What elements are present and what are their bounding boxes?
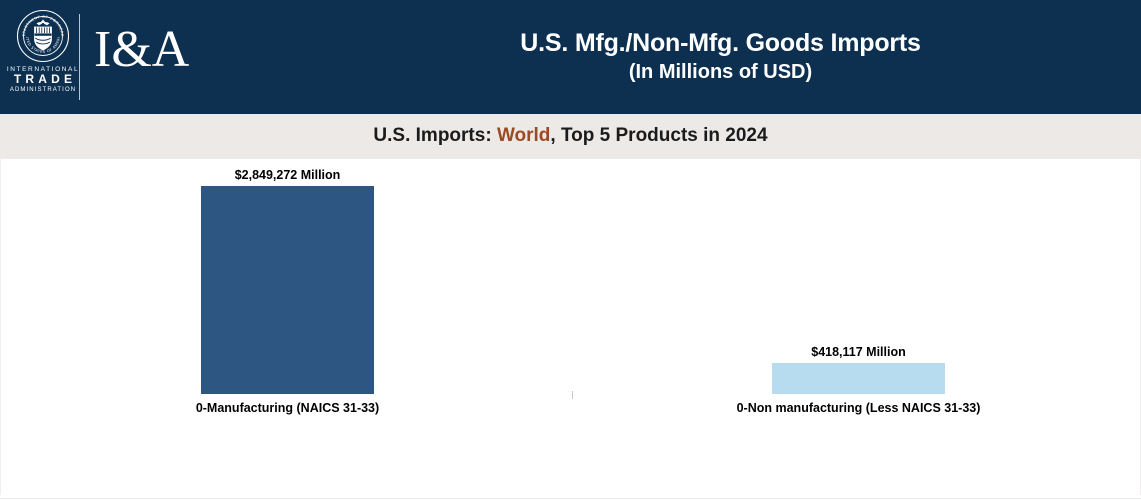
ia-logo-text: I&A [94, 24, 189, 76]
bar-value-label-0: $2,849,272 Million [235, 168, 341, 182]
page-title-line2: (In Millions of USD) [629, 59, 812, 86]
brand-block: DEPARTMENT OF COMMERCE UNITED STATES OF … [0, 0, 300, 114]
bar-group-non-manufacturing: $418,117 Million 0-Non manufacturing (Le… [772, 363, 945, 394]
bar-non-manufacturing[interactable] [772, 363, 945, 394]
chart-subtitle-band: U.S. Imports: World, Top 5 Products in 2… [0, 114, 1141, 158]
ita-word-administration: ADMINISTRATION [7, 87, 79, 94]
bar-category-label-1: 0-Non manufacturing (Less NAICS 31-33) [737, 401, 981, 415]
bar-group-manufacturing: $2,849,272 Million 0-Manufacturing (NAIC… [201, 186, 374, 394]
page-title: U.S. Mfg./Non-Mfg. Goods Imports (In Mil… [300, 0, 1141, 114]
x-axis-tick [572, 391, 573, 399]
department-of-commerce-seal-icon: DEPARTMENT OF COMMERCE UNITED STATES OF … [15, 8, 71, 64]
subtitle-region: World [497, 125, 550, 146]
subtitle-suffix: , Top 5 Products in 2024 [550, 125, 767, 146]
bar-chart-plot: $2,849,272 Million 0-Manufacturing (NAIC… [0, 159, 1141, 500]
subtitle-prefix: U.S. Imports: [373, 125, 497, 146]
page-title-line1: U.S. Mfg./Non-Mfg. Goods Imports [520, 28, 921, 59]
ita-logo-block: DEPARTMENT OF COMMERCE UNITED STATES OF … [12, 8, 74, 106]
chart-frame-left-edge [0, 158, 1, 495]
chart-panel: $2,849,272 Million 0-Manufacturing (NAIC… [0, 158, 1141, 499]
bar-category-label-0: 0-Manufacturing (NAICS 31-33) [196, 401, 379, 415]
bar-manufacturing[interactable] [201, 186, 374, 394]
page-header: DEPARTMENT OF COMMERCE UNITED STATES OF … [0, 0, 1141, 114]
chart-subtitle: U.S. Imports: World, Top 5 Products in 2… [373, 125, 767, 147]
ita-word-trade: TRADE [11, 73, 79, 87]
bar-value-label-1: $418,117 Million [811, 345, 906, 359]
ita-wordmark: INTERNATIONAL TRADE ADMINISTRATION [7, 66, 79, 94]
brand-divider [79, 14, 80, 100]
